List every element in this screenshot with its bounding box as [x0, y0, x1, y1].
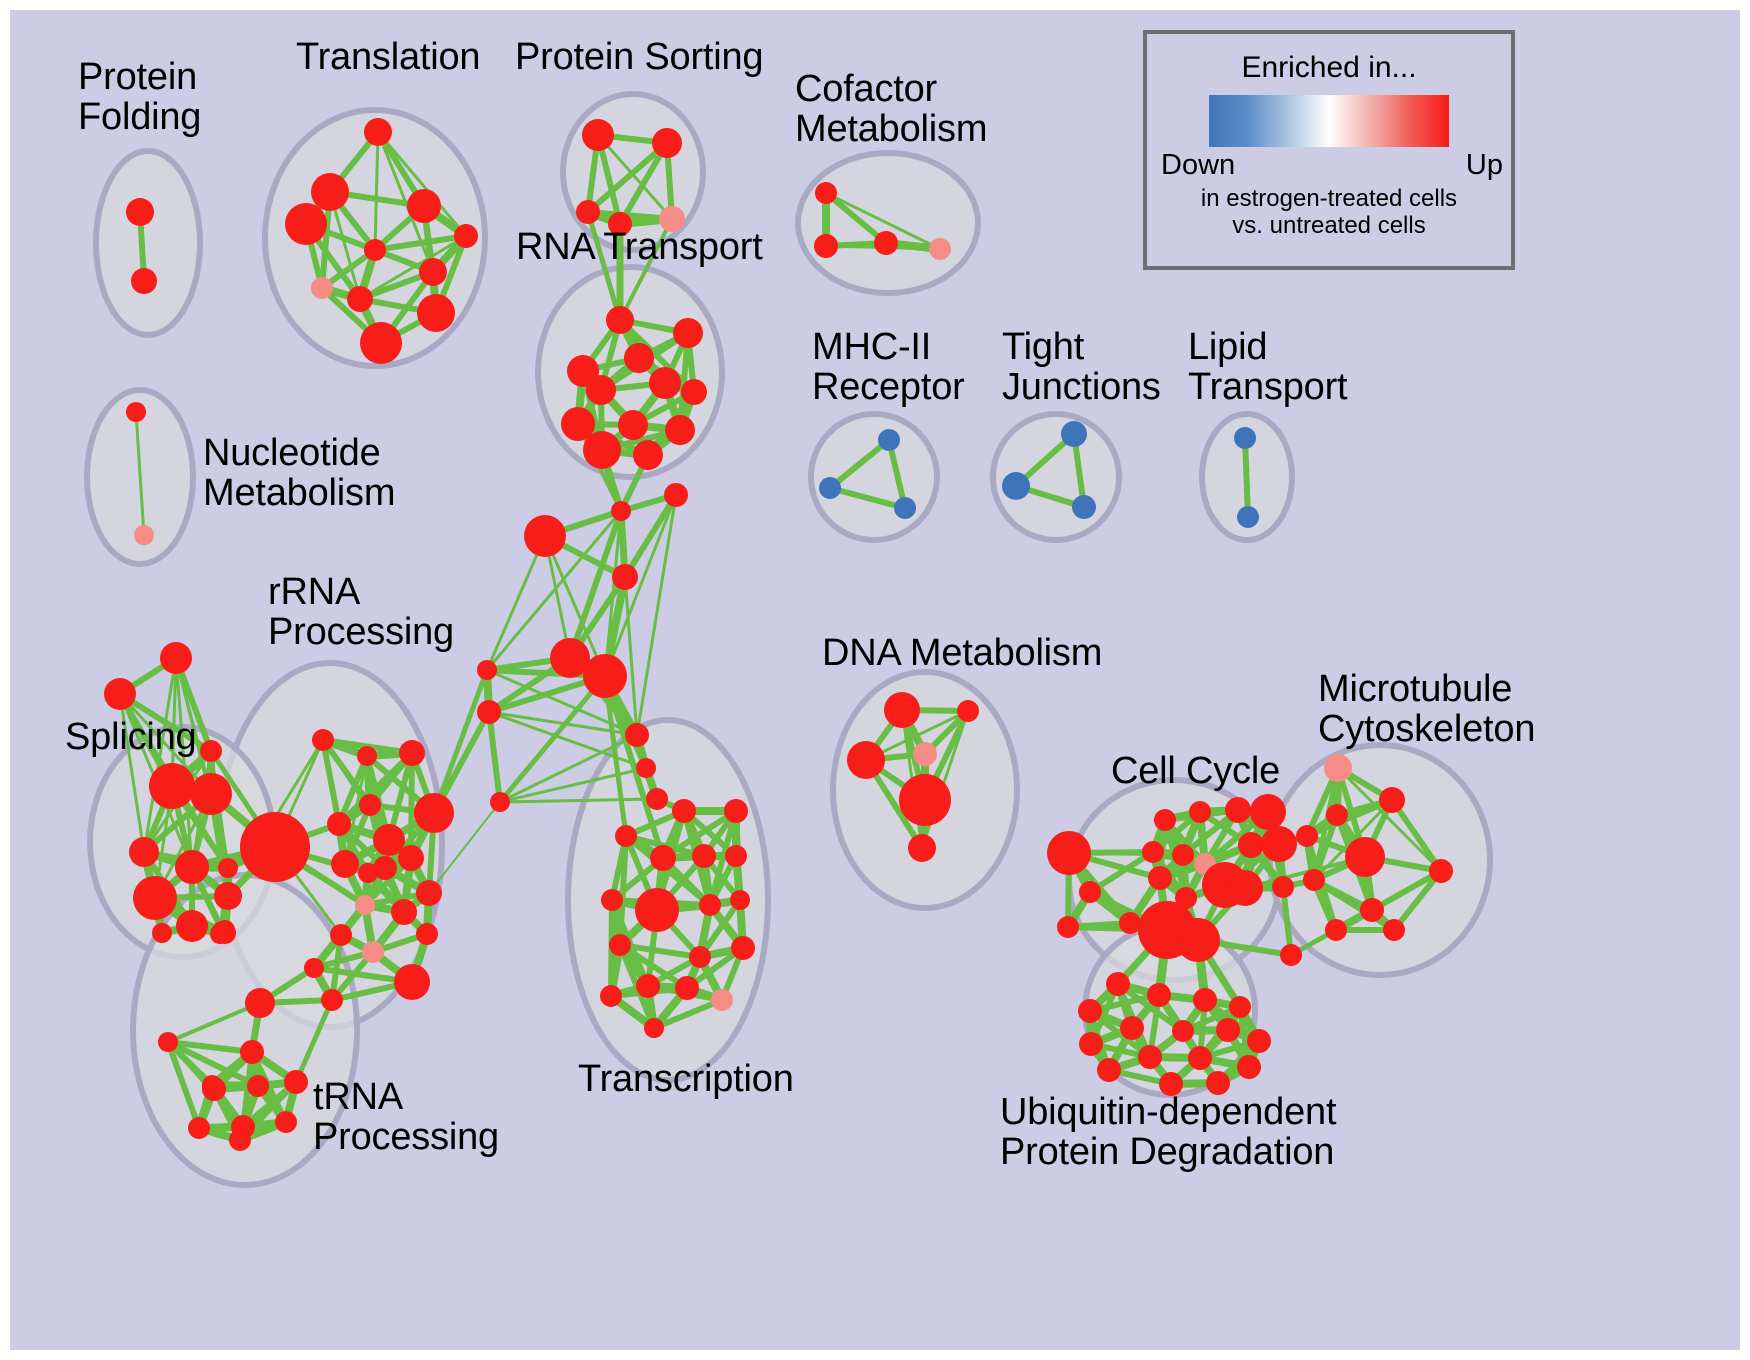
legend-subtitle-line1: in estrogen-treated cells	[1147, 186, 1511, 213]
gene-set-node[interactable]	[284, 1070, 308, 1094]
gene-set-node[interactable]	[355, 895, 375, 915]
gene-set-node[interactable]	[664, 483, 688, 507]
gene-set-node[interactable]	[176, 910, 208, 942]
gene-set-node[interactable]	[899, 774, 951, 826]
gene-set-node[interactable]	[1119, 912, 1141, 934]
gene-set-node[interactable]	[391, 899, 417, 925]
gene-set-node[interactable]	[347, 286, 373, 312]
gene-set-node[interactable]	[814, 234, 838, 258]
gene-set-node[interactable]	[175, 850, 209, 884]
legend-title: Enriched in...	[1147, 51, 1511, 85]
gene-set-node[interactable]	[635, 888, 679, 932]
gene-set-node[interactable]	[240, 1040, 264, 1064]
gene-set-node[interactable]	[414, 793, 454, 833]
gene-set-node[interactable]	[129, 837, 159, 867]
cluster-label-microtubule-cytoskeleton: Microtubule Cytoskeleton	[1318, 670, 1535, 749]
gene-set-node[interactable]	[1250, 794, 1286, 830]
gene-set-node[interactable]	[311, 277, 333, 299]
cluster-label-tight-junctions: Tight Junctions	[1002, 328, 1161, 407]
cluster-label-splicing: Splicing	[65, 718, 196, 758]
gene-set-node[interactable]	[394, 964, 430, 1000]
gene-set-node[interactable]	[646, 788, 668, 810]
gene-set-node[interactable]	[730, 890, 750, 910]
cluster-label-rrna-processing: rRNA Processing	[268, 573, 454, 652]
gene-set-node[interactable]	[819, 477, 841, 499]
gene-set-node[interactable]	[624, 343, 654, 373]
gene-set-node[interactable]	[649, 367, 681, 399]
gene-set-node[interactable]	[1261, 826, 1297, 862]
gene-set-node[interactable]	[1078, 999, 1102, 1023]
gene-set-node[interactable]	[681, 379, 707, 405]
gene-set-node[interactable]	[583, 654, 627, 698]
gene-set-node[interactable]	[275, 1111, 297, 1133]
gene-set-node[interactable]	[612, 564, 638, 590]
gene-set-node[interactable]	[625, 723, 649, 747]
gene-set-node[interactable]	[847, 741, 885, 779]
legend-low-label: Down	[1161, 149, 1235, 182]
legend-color-gradient	[1209, 95, 1449, 147]
gene-set-node[interactable]	[1326, 804, 1348, 826]
gene-set-node[interactable]	[1188, 1046, 1212, 1070]
gene-set-node[interactable]	[1097, 1058, 1121, 1082]
gene-set-node[interactable]	[583, 431, 621, 469]
gene-set-node[interactable]	[724, 799, 748, 823]
gene-set-node[interactable]	[675, 976, 699, 1000]
cluster-halo-mhc-ii-receptor	[811, 414, 937, 540]
edge	[1245, 438, 1248, 517]
cluster-halo-protein-folding	[96, 151, 200, 335]
gene-set-node[interactable]	[1189, 801, 1211, 823]
gene-set-node[interactable]	[1002, 472, 1030, 500]
cluster-label-cofactor-metabolism: Cofactor Metabolism	[795, 70, 987, 149]
gene-set-node[interactable]	[1237, 1055, 1261, 1079]
gene-set-node[interactable]	[359, 794, 381, 816]
gene-set-node[interactable]	[218, 858, 238, 878]
legend-box: Enriched in... Down Up in estrogen-treat…	[1143, 30, 1515, 270]
gene-set-node[interactable]	[152, 923, 172, 943]
gene-set-node[interactable]	[477, 660, 497, 680]
gene-set-node[interactable]	[1247, 1029, 1271, 1053]
gene-set-node[interactable]	[582, 119, 614, 151]
gene-set-node[interactable]	[692, 844, 716, 868]
gene-set-node[interactable]	[524, 515, 566, 557]
gene-set-node[interactable]	[1324, 754, 1352, 782]
gene-set-node[interactable]	[1296, 825, 1318, 847]
gene-set-node[interactable]	[1148, 866, 1172, 890]
gene-set-node[interactable]	[606, 306, 634, 334]
gene-set-node[interactable]	[214, 882, 242, 910]
gene-set-node[interactable]	[327, 812, 351, 836]
gene-set-node[interactable]	[957, 700, 979, 722]
gene-set-node[interactable]	[1120, 1016, 1144, 1040]
gene-set-node[interactable]	[1303, 869, 1325, 891]
gene-set-node[interactable]	[417, 294, 455, 332]
gene-set-node[interactable]	[1047, 831, 1091, 875]
cluster-label-protein-folding: Protein Folding	[78, 58, 201, 137]
gene-set-node[interactable]	[1238, 832, 1264, 858]
gene-set-node[interactable]	[652, 128, 682, 158]
gene-set-node[interactable]	[1147, 983, 1171, 1007]
gene-set-node[interactable]	[331, 850, 359, 878]
gene-set-node[interactable]	[1079, 1032, 1103, 1056]
gene-set-node[interactable]	[586, 375, 616, 405]
gene-set-node[interactable]	[711, 989, 733, 1011]
gene-set-node[interactable]	[360, 322, 402, 364]
gene-set-node[interactable]	[312, 729, 334, 751]
gene-set-node[interactable]	[672, 799, 696, 823]
gene-set-node[interactable]	[1429, 859, 1453, 883]
gene-set-node[interactable]	[884, 692, 920, 728]
cluster-label-dna-metabolism: DNA Metabolism	[822, 634, 1102, 674]
gene-set-node[interactable]	[229, 1129, 251, 1151]
gene-set-node[interactable]	[618, 410, 648, 440]
legend-endpoints: Down Up	[1147, 147, 1511, 182]
gene-set-node[interactable]	[913, 742, 937, 766]
gene-set-node[interactable]	[699, 894, 721, 916]
cluster-label-ubiquitin-degradation: Ubiquitin-dependent Protein Degradation	[1000, 1093, 1336, 1172]
edge	[489, 712, 500, 802]
gene-set-node[interactable]	[633, 440, 663, 470]
edge	[434, 670, 487, 813]
gene-set-node[interactable]	[133, 876, 177, 920]
gene-set-node[interactable]	[245, 988, 275, 1018]
gene-set-node[interactable]	[104, 678, 136, 710]
gene-set-node[interactable]	[1061, 421, 1087, 447]
gene-set-node[interactable]	[929, 238, 951, 260]
gene-set-node[interactable]	[1072, 495, 1096, 519]
gene-set-node[interactable]	[1176, 918, 1220, 962]
gene-set-node[interactable]	[665, 415, 695, 445]
gene-set-node[interactable]	[1172, 844, 1194, 866]
gene-set-node[interactable]	[1360, 898, 1384, 922]
gene-set-node[interactable]	[364, 239, 386, 261]
gene-set-node[interactable]	[1272, 876, 1294, 898]
edge	[487, 536, 545, 670]
gene-set-node[interactable]	[131, 268, 157, 294]
gene-set-node[interactable]	[364, 118, 392, 146]
gene-set-node[interactable]	[615, 825, 637, 847]
gene-set-node[interactable]	[1345, 837, 1385, 877]
gene-set-node[interactable]	[490, 792, 510, 812]
gene-set-node[interactable]	[1154, 809, 1176, 831]
gene-set-node[interactable]	[874, 231, 898, 255]
gene-set-node[interactable]	[311, 173, 349, 211]
gene-set-node[interactable]	[212, 923, 232, 943]
gene-set-node[interactable]	[330, 924, 352, 946]
gene-set-node[interactable]	[285, 203, 327, 245]
gene-set-node[interactable]	[878, 429, 900, 451]
gene-set-node[interactable]	[1379, 787, 1405, 813]
gene-set-node[interactable]	[362, 941, 384, 963]
gene-set-node[interactable]	[321, 989, 343, 1011]
gene-set-node[interactable]	[1172, 1020, 1194, 1042]
gene-set-node[interactable]	[158, 1032, 178, 1052]
cluster-label-transcription: Transcription	[578, 1060, 794, 1100]
gene-set-node[interactable]	[1138, 1045, 1162, 1069]
gene-set-node[interactable]	[601, 889, 623, 911]
gene-set-node[interactable]	[576, 200, 600, 224]
gene-set-node[interactable]	[419, 258, 447, 286]
gene-set-node[interactable]	[160, 642, 192, 674]
gene-set-node[interactable]	[1229, 996, 1251, 1018]
gene-set-node[interactable]	[1079, 881, 1101, 903]
gene-set-node[interactable]	[398, 845, 424, 871]
gene-set-node[interactable]	[454, 224, 478, 248]
gene-set-node[interactable]	[149, 763, 195, 809]
gene-set-node[interactable]	[477, 700, 501, 724]
legend-subtitle-line2: vs. untreated cells	[1147, 213, 1511, 240]
gene-set-node[interactable]	[399, 740, 425, 766]
gene-set-node[interactable]	[1216, 1018, 1240, 1042]
gene-set-node[interactable]	[190, 773, 232, 815]
gene-set-node[interactable]	[200, 740, 222, 762]
gene-set-node[interactable]	[609, 934, 631, 956]
gene-set-node[interactable]	[1237, 506, 1259, 528]
gene-set-node[interactable]	[358, 863, 378, 883]
gene-set-node[interactable]	[815, 182, 837, 204]
gene-set-node[interactable]	[673, 318, 703, 348]
gene-set-node[interactable]	[240, 812, 310, 882]
figure-canvas: Protein FoldingTranslationProtein Sortin…	[0, 0, 1750, 1360]
cluster-label-lipid-transport: Lipid Transport	[1188, 328, 1347, 407]
gene-set-node[interactable]	[126, 402, 146, 422]
gene-set-node[interactable]	[611, 501, 631, 521]
gene-set-node[interactable]	[650, 845, 676, 871]
gene-set-node[interactable]	[725, 845, 747, 867]
gene-set-node[interactable]	[636, 974, 660, 998]
gene-set-node[interactable]	[644, 1018, 664, 1038]
cluster-label-cell-cycle: Cell Cycle	[1111, 752, 1280, 792]
legend-subtitle: in estrogen-treated cells vs. untreated …	[1147, 186, 1511, 240]
gene-set-node[interactable]	[908, 834, 936, 862]
gene-set-node[interactable]	[894, 497, 916, 519]
cluster-label-translation: Translation	[296, 38, 480, 78]
gene-set-node[interactable]	[1106, 972, 1130, 996]
cluster-label-protein-sorting: Protein Sorting	[515, 38, 763, 78]
gene-set-node[interactable]	[416, 880, 442, 906]
gene-set-node[interactable]	[134, 525, 154, 545]
gene-set-node[interactable]	[126, 198, 154, 226]
cluster-label-mhc-ii-receptor: MHC-II Receptor	[812, 328, 965, 407]
gene-set-node[interactable]	[1325, 919, 1347, 941]
gene-set-node[interactable]	[1227, 870, 1263, 906]
gene-set-node[interactable]	[689, 946, 711, 968]
gene-set-node[interactable]	[407, 189, 441, 223]
gene-set-node[interactable]	[247, 1075, 269, 1097]
cluster-label-nucleotide-metabolism: Nucleotide Metabolism	[203, 434, 395, 513]
cluster-label-trna-processing: tRNA Processing	[313, 1078, 499, 1157]
gene-set-node[interactable]	[731, 936, 755, 960]
gene-set-node[interactable]	[600, 985, 622, 1007]
gene-set-node[interactable]	[1383, 919, 1405, 941]
gene-set-node[interactable]	[636, 758, 656, 778]
gene-set-node[interactable]	[188, 1117, 210, 1139]
gene-set-node[interactable]	[1280, 944, 1302, 966]
gene-set-node[interactable]	[1225, 797, 1251, 823]
legend-high-label: Up	[1466, 149, 1503, 182]
cluster-label-rna-transport: RNA Transport	[516, 228, 763, 268]
gene-set-node[interactable]	[1057, 916, 1079, 938]
gene-set-node[interactable]	[416, 923, 438, 945]
gene-set-node[interactable]	[1142, 841, 1164, 863]
gene-set-node[interactable]	[202, 1075, 222, 1095]
gene-set-node[interactable]	[357, 746, 377, 766]
gene-set-node[interactable]	[304, 958, 324, 978]
gene-set-node[interactable]	[1193, 988, 1217, 1012]
gene-set-node[interactable]	[1234, 427, 1256, 449]
